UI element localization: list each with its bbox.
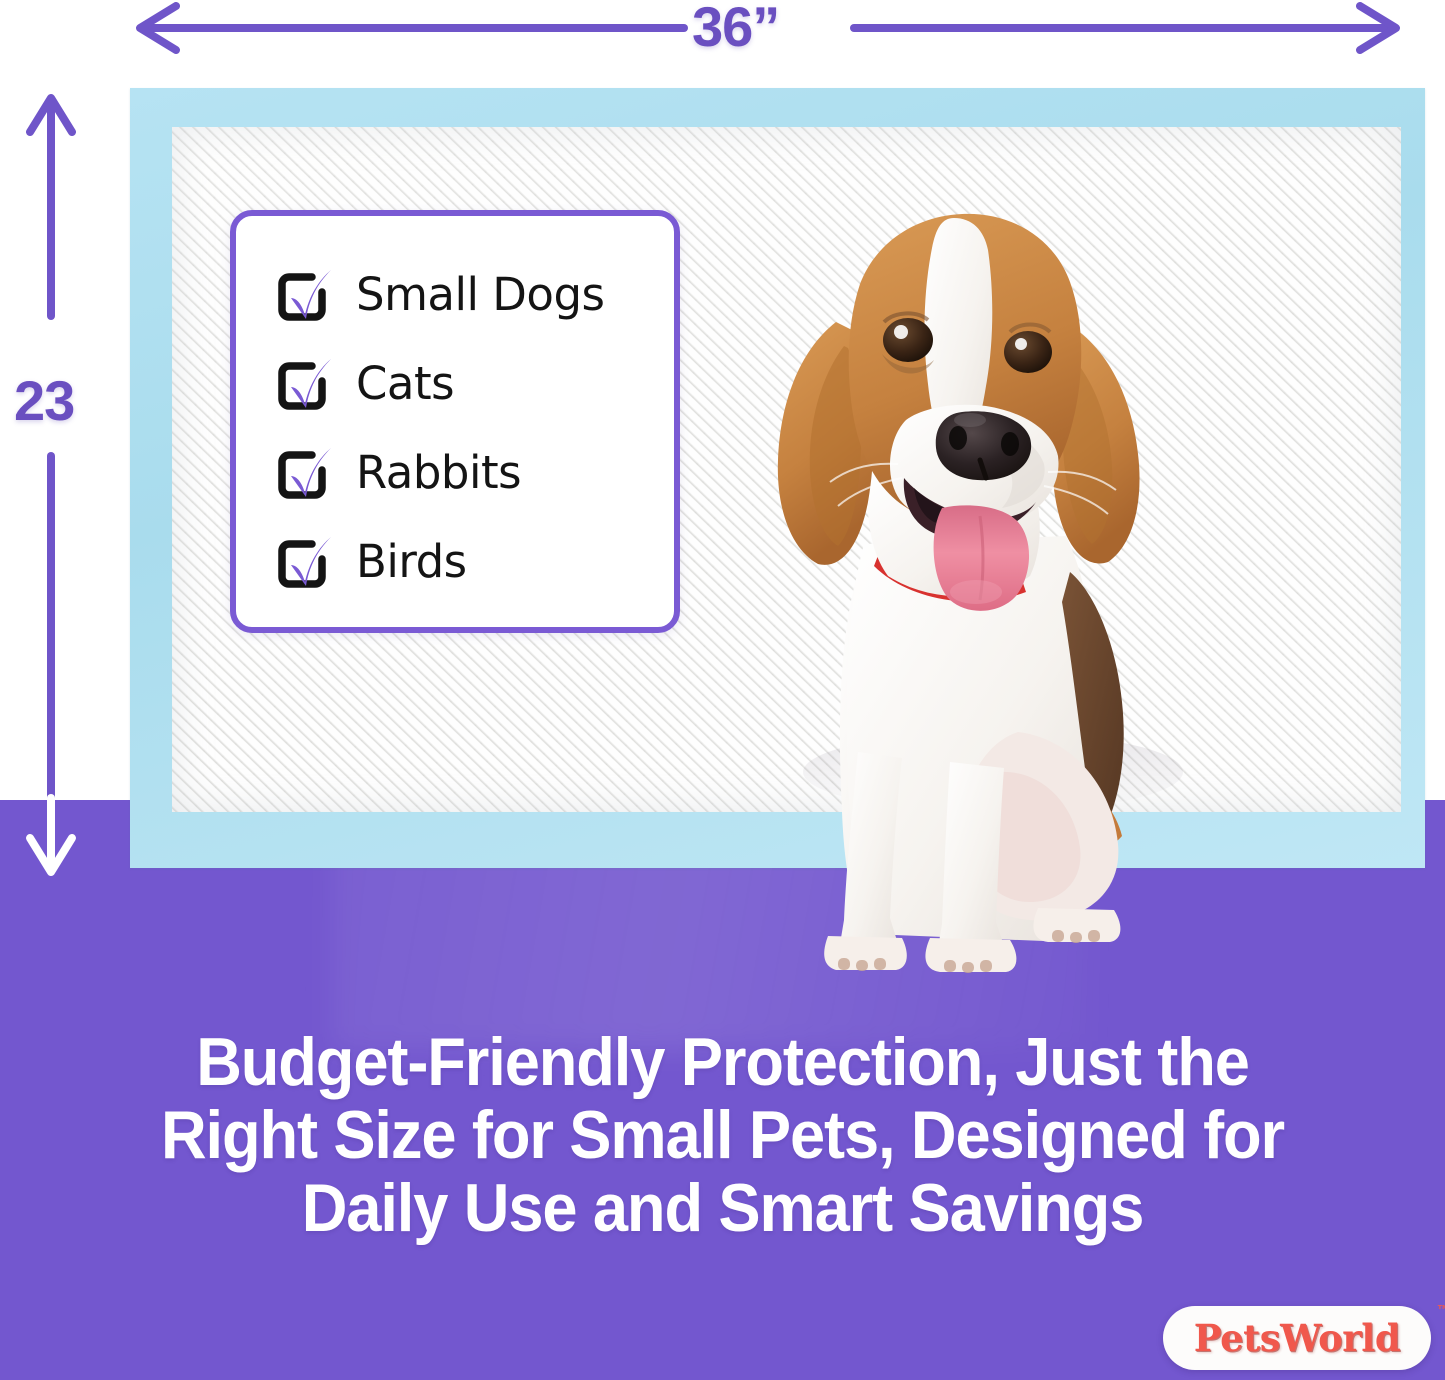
checkbox-checked-icon[interactable] [276, 356, 332, 412]
brand-name: PetsWorld [1194, 1316, 1400, 1360]
brand-logo: PetsWorld ™ [1163, 1306, 1431, 1370]
headline-line: Right Size for Small Pets, Designed for [118, 1099, 1328, 1172]
checklist-item[interactable]: Cats [276, 339, 674, 428]
checkbox-checked-icon[interactable] [276, 534, 332, 590]
suitable-pets-checklist: Small Dogs Cats Rabbits [230, 210, 680, 633]
checklist-item-label: Cats [356, 361, 454, 406]
beagle-dog-photo [718, 172, 1248, 972]
checkbox-checked-icon[interactable] [276, 445, 332, 501]
height-dimension-arrow [16, 86, 106, 886]
checklist-item[interactable]: Birds [276, 517, 674, 606]
height-dimension-label: 23 [14, 368, 74, 433]
headline-line: Daily Use and Smart Savings [118, 1172, 1328, 1245]
checklist-item-label: Small Dogs [356, 272, 604, 317]
checklist-item-label: Birds [356, 539, 467, 584]
trademark-symbol: ™ [1437, 1302, 1445, 1317]
marketing-headline: Budget-Friendly Protection, Just the Rig… [118, 1026, 1328, 1245]
checklist-item-label: Rabbits [356, 450, 521, 495]
product-infographic: Small Dogs Cats Rabbits [0, 0, 1445, 1380]
checklist-item[interactable]: Small Dogs [276, 250, 674, 339]
headline-line: Budget-Friendly Protection, Just the [118, 1026, 1328, 1099]
checkbox-checked-icon[interactable] [276, 267, 332, 323]
width-dimension-label: 36” [692, 0, 779, 59]
checklist-item[interactable]: Rabbits [276, 428, 674, 517]
